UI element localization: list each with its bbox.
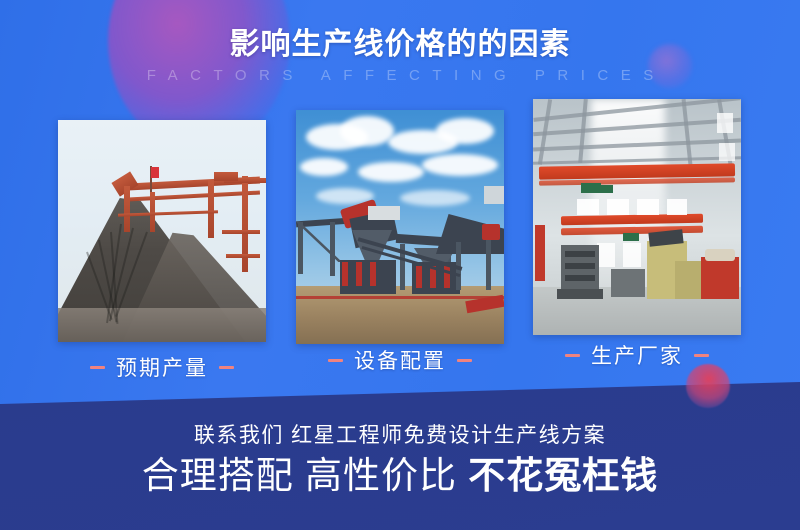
dash-left-icon — [90, 366, 105, 369]
dash-left-icon — [328, 359, 343, 362]
dash-right-icon — [219, 366, 234, 369]
photo-factory-workshop — [533, 99, 741, 335]
photo-panel-equipment-config[interactable] — [296, 110, 504, 344]
dash-right-icon — [694, 354, 709, 357]
dash-right-icon — [457, 359, 472, 362]
caption-manufacturer: 生产厂家 — [533, 340, 741, 370]
footer-slogan: 合理搭配 高性价比 不花冤枉钱 — [0, 455, 800, 498]
photo-panel-manufacturer[interactable] — [533, 99, 741, 335]
photo-panel-expected-output[interactable] — [58, 120, 266, 342]
footer-slogan-part1: 合理搭配 高性价比 — [142, 455, 469, 496]
caption-expected-output: 预期产量 — [58, 352, 266, 382]
footer-slogan-part2: 不花冤枉钱 — [468, 455, 658, 496]
dash-left-icon — [565, 354, 580, 357]
caption-text: 预期产量 — [116, 352, 208, 382]
photo-crushing-plant — [296, 110, 504, 344]
photo-conveyor-stockpile — [58, 120, 266, 342]
caption-equipment-config: 设备配置 — [296, 345, 504, 375]
caption-text: 设备配置 — [354, 345, 446, 375]
promo-banner: 影响生产线价格的的因素 FACTORS AFFECTING PRICES — [0, 0, 800, 530]
caption-text: 生产厂家 — [591, 340, 683, 370]
footer-contact-line: 联系我们 红星工程师免费设计生产线方案 — [0, 419, 800, 449]
